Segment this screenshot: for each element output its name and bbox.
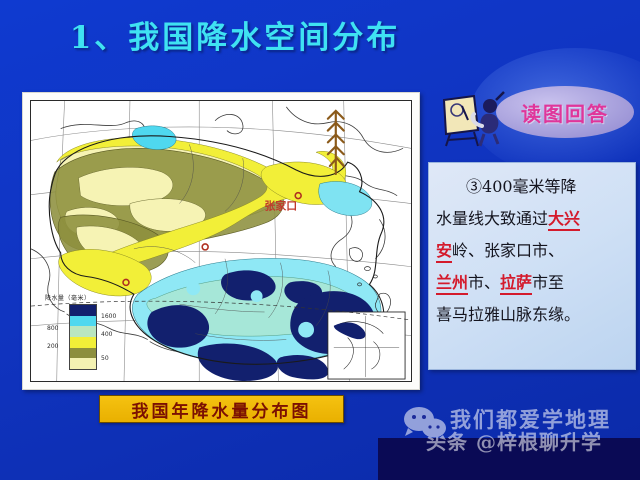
highlight-daxing: 大兴 (548, 209, 580, 231)
panel-line-5: 喜马拉雅山脉东缘。 (436, 299, 628, 331)
china-precipitation-map: 张家口 (31, 101, 411, 381)
greater-khingan-range-symbol (328, 111, 344, 174)
panel-line-1: ③400毫米等降 (436, 171, 628, 203)
zone-hole-b (251, 290, 263, 302)
map-caption: 我国年降水量分布图 (99, 395, 344, 423)
bottom-bar (378, 438, 640, 480)
read-map-badge: 读图回答 (440, 88, 640, 150)
panel-line4-text-a: 市、 (468, 273, 500, 292)
panel-line-4: 兰州市、拉萨市至 (436, 267, 628, 299)
slide-canvas: 1、我国降水空间分布 (0, 0, 640, 480)
highlight-lhasa: 拉萨 (500, 273, 532, 295)
map-frame: 张家口 降水量（毫米） 1600 800 400 200 50 (30, 100, 412, 382)
panel-number: ③ (466, 177, 482, 196)
watermark-text: 我们都爱学地理 (450, 404, 611, 434)
panel-line-2: 水量线大致通过大兴 (436, 203, 628, 235)
panel-line1-text: 400毫米等降 (482, 177, 577, 196)
zone-over-1600mm-f (277, 355, 329, 379)
panel-line5-text: 喜马拉雅山脉东缘。 (436, 305, 580, 324)
city-label-zhangjiakou: 张家口 (265, 198, 298, 212)
panel-line2-text: 水量线大致通过 (436, 209, 548, 228)
map-inset-box (328, 312, 405, 379)
panel-line3-text: 岭、张家口市、 (452, 241, 564, 260)
panel-line4-text-b: 市至 (532, 273, 564, 292)
map-card: 张家口 降水量（毫米） 1600 800 400 200 50 (22, 92, 420, 390)
panel-line-3: 安岭、张家口市、 (436, 235, 628, 267)
wechat-icon (402, 406, 448, 440)
zone-hole-a (186, 281, 200, 295)
highlight-lanzhou: 兰州 (436, 273, 468, 295)
zone-hole-c (298, 322, 314, 338)
badge-label: 读图回答 (496, 86, 634, 138)
highlight-an: 安 (436, 241, 452, 263)
question-panel: ③400毫米等降 水量线大致通过大兴 安岭、张家口市、 兰州市、拉萨市至 喜马拉… (428, 162, 636, 370)
zone-ne-cyan (319, 181, 372, 215)
city-dot-lanzhou (202, 244, 208, 250)
page-title: 1、我国降水空间分布 (0, 12, 470, 57)
